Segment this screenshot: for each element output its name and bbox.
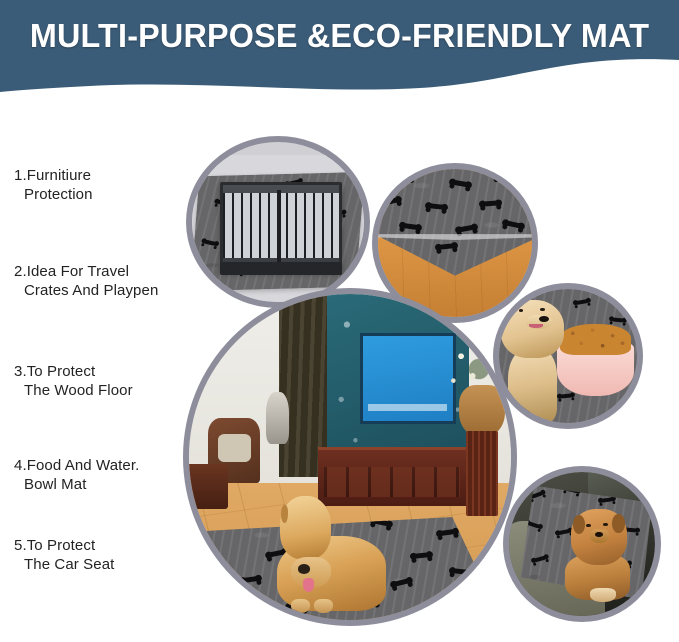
dog-head [280,496,331,559]
bone-pattern-icon [402,223,420,230]
scene-dog-on-mat-living-room [189,294,511,620]
decorative-vase [459,385,504,437]
dog-eye [603,523,607,526]
golden-retriever-dog [273,496,389,613]
bone-pattern-icon [204,239,217,246]
puppy-dog [562,509,638,598]
bone-pattern-icon [495,171,513,178]
dog-nose [595,532,602,537]
bone-pattern-icon [439,529,457,536]
dog-head [571,509,627,564]
scene-puppy-on-car-seat [509,472,655,616]
bone-pattern-icon [458,225,476,233]
dog-paw [291,599,310,613]
dog-body [508,348,558,423]
dog-paw [590,588,616,602]
dog-ear [281,505,288,523]
bone-pattern-icon [451,180,469,188]
dog-nose [298,564,310,573]
photo-circle-living-room [183,288,517,626]
side-table [183,464,228,510]
bone-pattern-icon [534,556,547,563]
bone-pattern-icon [209,600,226,606]
bone-pattern-icon [183,623,200,626]
television [360,333,456,424]
dog-mouth [529,324,543,328]
dog-eye [586,524,590,527]
dog-ear [612,514,624,533]
photo-circle-dog-crate [186,136,370,308]
bone-pattern-icon [183,570,187,579]
bone-pattern-icon [393,578,411,587]
scene-dog-with-food-bowl [499,289,637,423]
dog-eye [540,308,544,311]
crate-base-tray [220,262,342,275]
bone-pattern-icon [438,243,455,250]
dog-paw [314,599,333,613]
dog-ear [573,515,585,534]
bone-pattern-icon [432,607,450,614]
bone-pattern-icon [340,625,358,626]
dog-crate [220,182,343,271]
armchair-cushion [218,434,251,463]
bone-pattern-icon [242,576,260,583]
photo-circle-car-seat [503,466,661,622]
decorative-column [466,431,498,516]
table-lamp [266,392,289,444]
tv-screen-glare [368,404,447,411]
bone-pattern-icon [395,174,412,179]
bone-pattern-icon [413,553,430,560]
bone-pattern-icon [452,568,469,575]
cabinet-doors [324,467,460,497]
bone-pattern-icon [601,497,613,503]
bone-pattern-icon [505,220,523,228]
bone-pattern-icon [381,197,399,206]
bone-pattern-icon [196,545,213,552]
dog-eye [519,309,523,312]
bone-pattern-icon [428,203,445,210]
bone-pattern-icon [612,318,624,323]
photo-circle-food-bowl [493,283,643,429]
bone-pattern-icon [528,521,541,529]
crate-door-divider [277,190,281,262]
photo-collage [0,0,679,642]
scene-dog-crate-on-mat [192,142,364,302]
bone-pattern-icon [576,299,589,305]
bone-pattern-icon [481,201,498,207]
